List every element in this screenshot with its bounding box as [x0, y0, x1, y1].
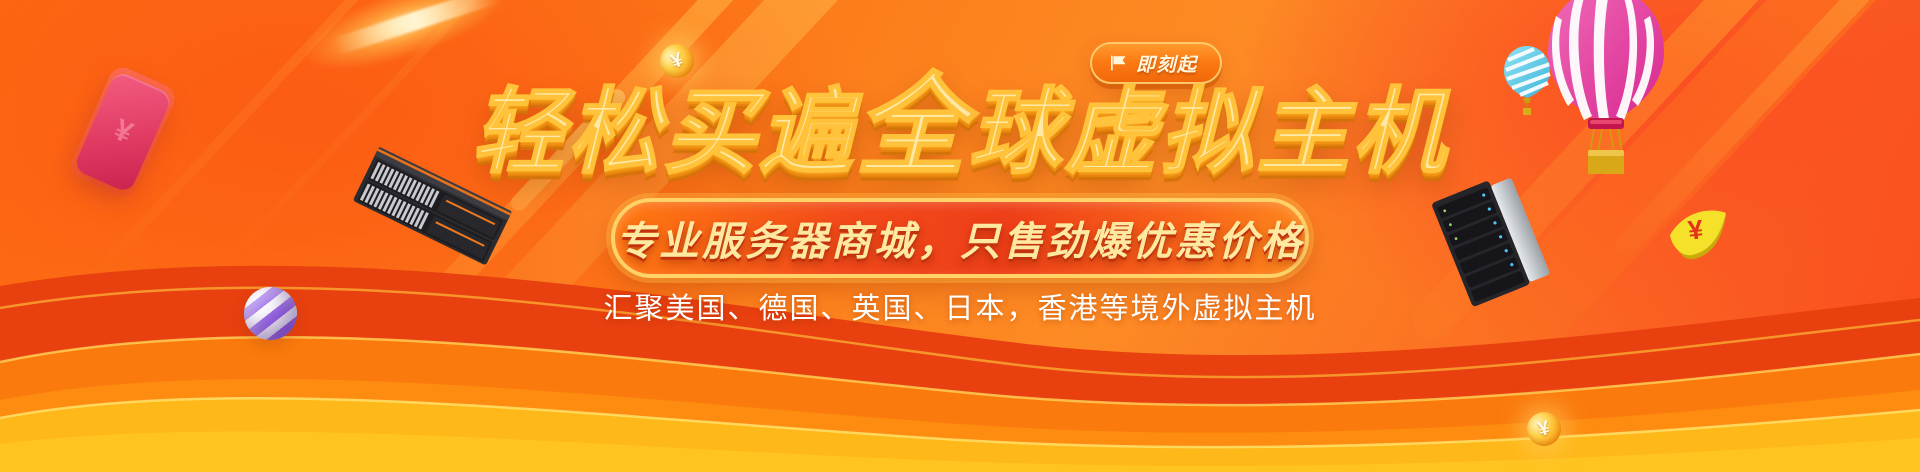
voucher-leaf: ¥: [1660, 205, 1734, 277]
flag-icon: [1110, 55, 1127, 71]
subtitle-text: 专业服务器商城，只售劲爆优惠价格: [616, 209, 1304, 267]
promo-banner: ¥: [0, 0, 1920, 472]
headline-part2: 全: [856, 65, 969, 188]
svg-text:¥: ¥: [1686, 214, 1704, 245]
headline: 轻松买遍全球虚拟主机: [0, 72, 1920, 182]
headline-part3: 球虚拟主机: [969, 80, 1449, 184]
subtitle-pill: 专业服务器商城，只售劲爆优惠价格: [611, 198, 1309, 278]
description-text: 汇聚美国、德国、英国、日本，香港等境外虚拟主机: [0, 285, 1920, 327]
headline-part1: 轻松买遍: [472, 80, 856, 184]
